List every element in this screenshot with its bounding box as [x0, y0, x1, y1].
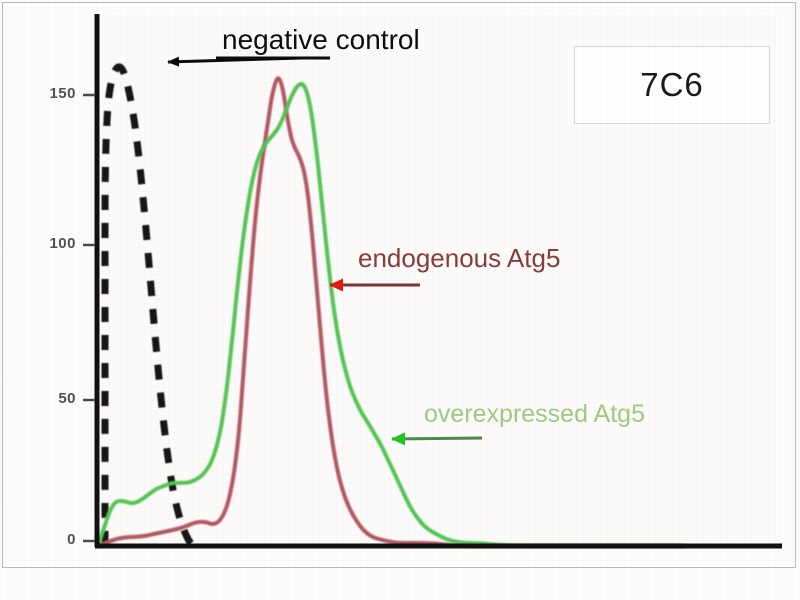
- flow-cytometry-figure: 150100500 negative control endogenous At…: [0, 0, 800, 600]
- series-endogenous-atg5: [98, 78, 684, 546]
- overexpressed-atg5-arrow: [392, 438, 482, 439]
- annotation-negative-control: negative control: [222, 24, 420, 56]
- y-axis-tick-label-150: 150: [14, 85, 76, 102]
- series-overexpressed-atg5: [98, 84, 684, 546]
- sample-id-badge: 7C6: [574, 46, 770, 124]
- y-axis-tick-label-100: 100: [14, 235, 76, 252]
- annotation-endogenous-atg5: endogenous Atg5: [358, 243, 560, 274]
- annotation-overexpressed-atg5: overexpressed Atg5: [424, 400, 645, 429]
- series-layer: [98, 67, 684, 546]
- sample-id-label: 7C6: [640, 66, 704, 104]
- y-tick-marks: [83, 95, 95, 541]
- series-negative-control: [105, 67, 194, 546]
- y-axis-tick-label-0: 0: [14, 531, 76, 548]
- y-axis-tick-label-50: 50: [14, 390, 76, 407]
